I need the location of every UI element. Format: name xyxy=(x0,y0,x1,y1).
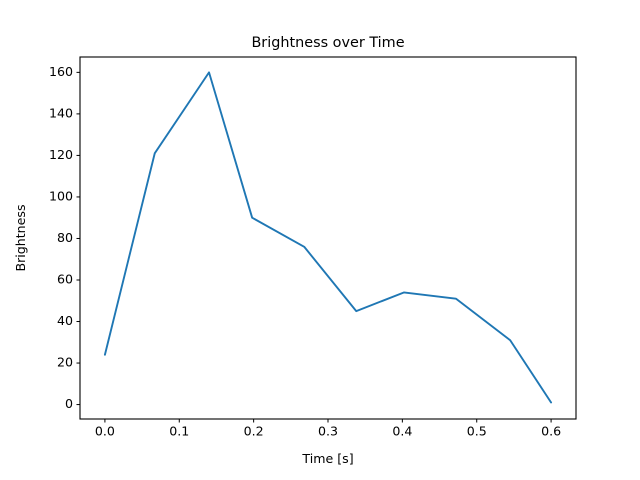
y-tick-label: 120 xyxy=(49,147,73,162)
y-axis-ticks: 020406080100120140160 xyxy=(49,64,80,411)
y-tick-label: 80 xyxy=(57,230,73,245)
x-tick-label: 0.1 xyxy=(169,424,189,439)
x-axis-ticks: 0.00.10.20.30.40.50.6 xyxy=(95,419,561,439)
chart-canvas: 0.00.10.20.30.40.50.6 020406080100120140… xyxy=(0,0,640,480)
x-tick-label: 0.3 xyxy=(318,424,338,439)
x-axis-label: Time [s] xyxy=(301,451,353,466)
y-tick-label: 40 xyxy=(57,313,73,328)
axes-spines xyxy=(80,57,576,419)
x-tick-label: 0.5 xyxy=(467,424,487,439)
x-tick-label: 0.4 xyxy=(392,424,412,439)
x-tick-label: 0.2 xyxy=(244,424,264,439)
y-tick-label: 160 xyxy=(49,64,73,79)
y-tick-label: 100 xyxy=(49,188,73,203)
chart-title: Brightness over Time xyxy=(251,35,404,51)
line-series-brightness xyxy=(105,72,551,402)
x-tick-label: 0.6 xyxy=(541,424,561,439)
y-tick-label: 20 xyxy=(57,355,73,370)
data-area xyxy=(105,72,551,402)
y-tick-label: 140 xyxy=(49,105,73,120)
x-tick-label: 0.0 xyxy=(95,424,115,439)
y-tick-label: 60 xyxy=(57,271,73,286)
matplotlib-figure: 0.00.10.20.30.40.50.6 020406080100120140… xyxy=(0,0,640,480)
y-tick-label: 0 xyxy=(65,396,73,411)
y-axis-label: Brightness xyxy=(13,204,28,271)
axes-frame xyxy=(80,57,576,419)
